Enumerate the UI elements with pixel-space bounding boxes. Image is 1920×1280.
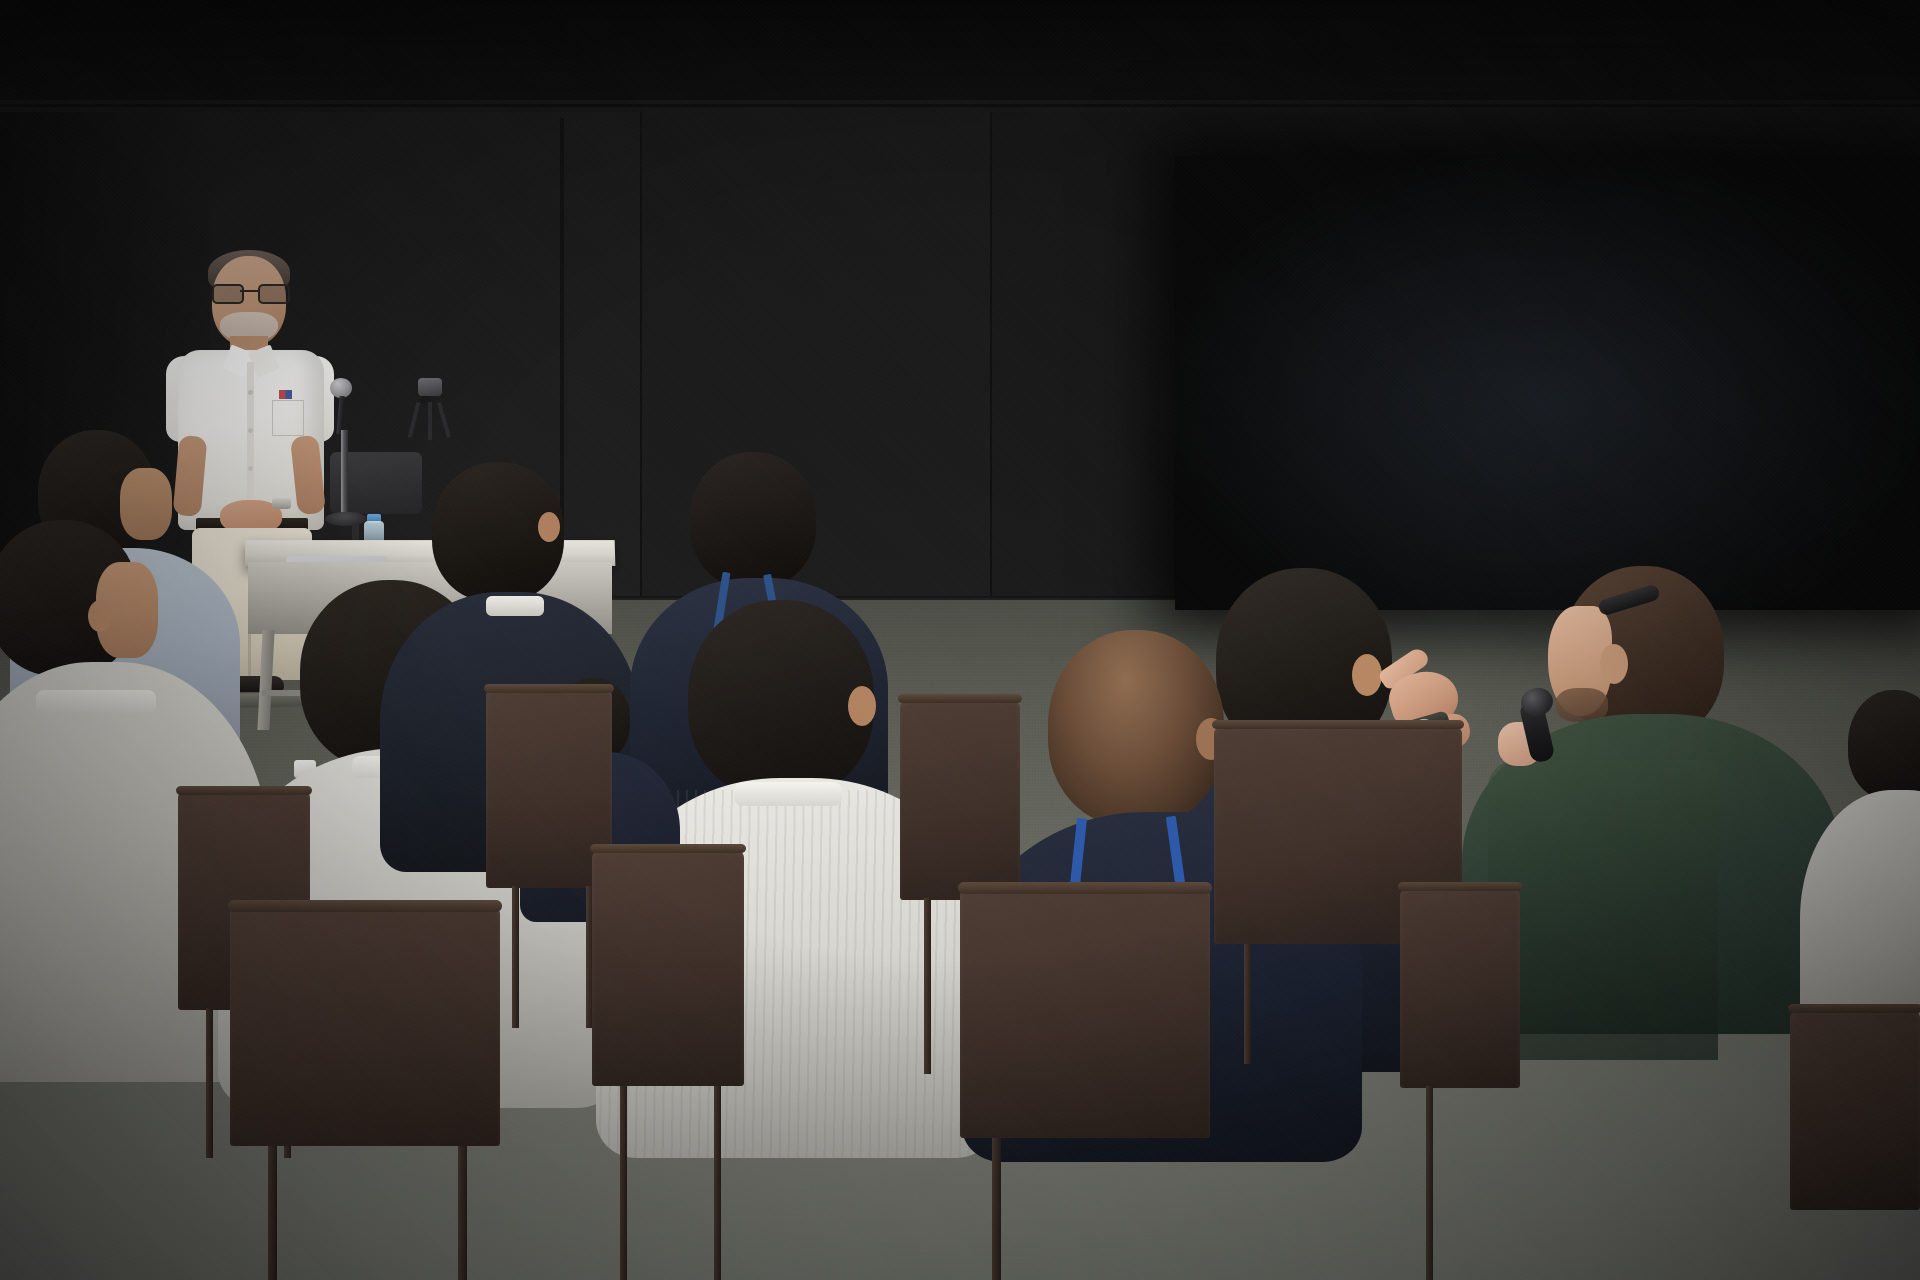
attendee-ear: [538, 512, 560, 542]
chair-leg: [268, 1146, 277, 1280]
desk-microphone-base: [325, 512, 367, 526]
chair-leg: [206, 1008, 213, 1158]
chair-back-rail: [228, 900, 502, 912]
attendee-head: [688, 600, 874, 798]
presenter-glasses-icon: [212, 284, 286, 301]
glasses-right-lens: [258, 284, 290, 304]
attendee-collar: [36, 690, 156, 714]
chair-leg: [1426, 1086, 1433, 1280]
chair[interactable]: [1400, 888, 1520, 1088]
chair[interactable]: [900, 700, 1020, 900]
chair-back-rail: [484, 684, 614, 693]
tripod-leg: [428, 402, 432, 440]
chair[interactable]: [1790, 1010, 1920, 1210]
chair-back-rail: [1788, 1004, 1920, 1013]
chair-leg: [458, 1146, 467, 1280]
chair-leg: [1244, 944, 1251, 1064]
shirt-logo-icon: [279, 390, 292, 399]
presenter-wristwatch: [272, 498, 291, 509]
glasses-left-lens: [212, 284, 244, 304]
shirt-button: [248, 428, 253, 433]
chair-back-rail: [176, 786, 312, 795]
questioner-jacket-shadow: [1488, 760, 1718, 1060]
chair-back-rail: [590, 844, 746, 853]
ceiling: [0, 0, 1920, 112]
chair-back-rail: [958, 882, 1212, 894]
glasses-bridge: [240, 290, 258, 292]
chair-leg: [512, 886, 519, 1028]
chair[interactable]: [230, 906, 500, 1146]
chair[interactable]: [960, 888, 1210, 1138]
chair-leg: [714, 1086, 721, 1280]
attendee-shirt-collar: [486, 596, 544, 616]
lecture-hall-scene: 寿 福 茶 和 清 静: [0, 0, 1920, 1280]
chair-back-rail: [898, 694, 1022, 703]
presenter-shirt-pocket: [272, 400, 304, 436]
attendee-ear: [88, 600, 112, 632]
attendee-collar: [734, 782, 842, 806]
shirt-button: [248, 390, 253, 395]
chair-leg: [992, 1138, 1001, 1280]
chair-leg: [924, 898, 931, 1074]
attendee-face: [120, 468, 172, 540]
chair-back-rail: [1398, 882, 1522, 891]
shirt-button: [248, 466, 253, 471]
wall-ceiling-seam: [0, 104, 1920, 107]
attendee-ear: [848, 686, 876, 726]
projection-screen-frame: 寿 福 茶 和 清 静: [1175, 155, 1920, 610]
desk-microphone-shaft: [341, 430, 348, 518]
attendee-ear: [1352, 654, 1382, 696]
wall-panel-center: [640, 112, 992, 660]
attendee-head: [1848, 690, 1920, 800]
chair-back-rail: [1212, 720, 1464, 729]
questioner-ear: [1600, 644, 1628, 684]
chair-leg: [620, 1086, 627, 1280]
chair[interactable]: [592, 850, 744, 1086]
video-camera-body: [418, 378, 442, 396]
attendee-head: [690, 452, 816, 588]
